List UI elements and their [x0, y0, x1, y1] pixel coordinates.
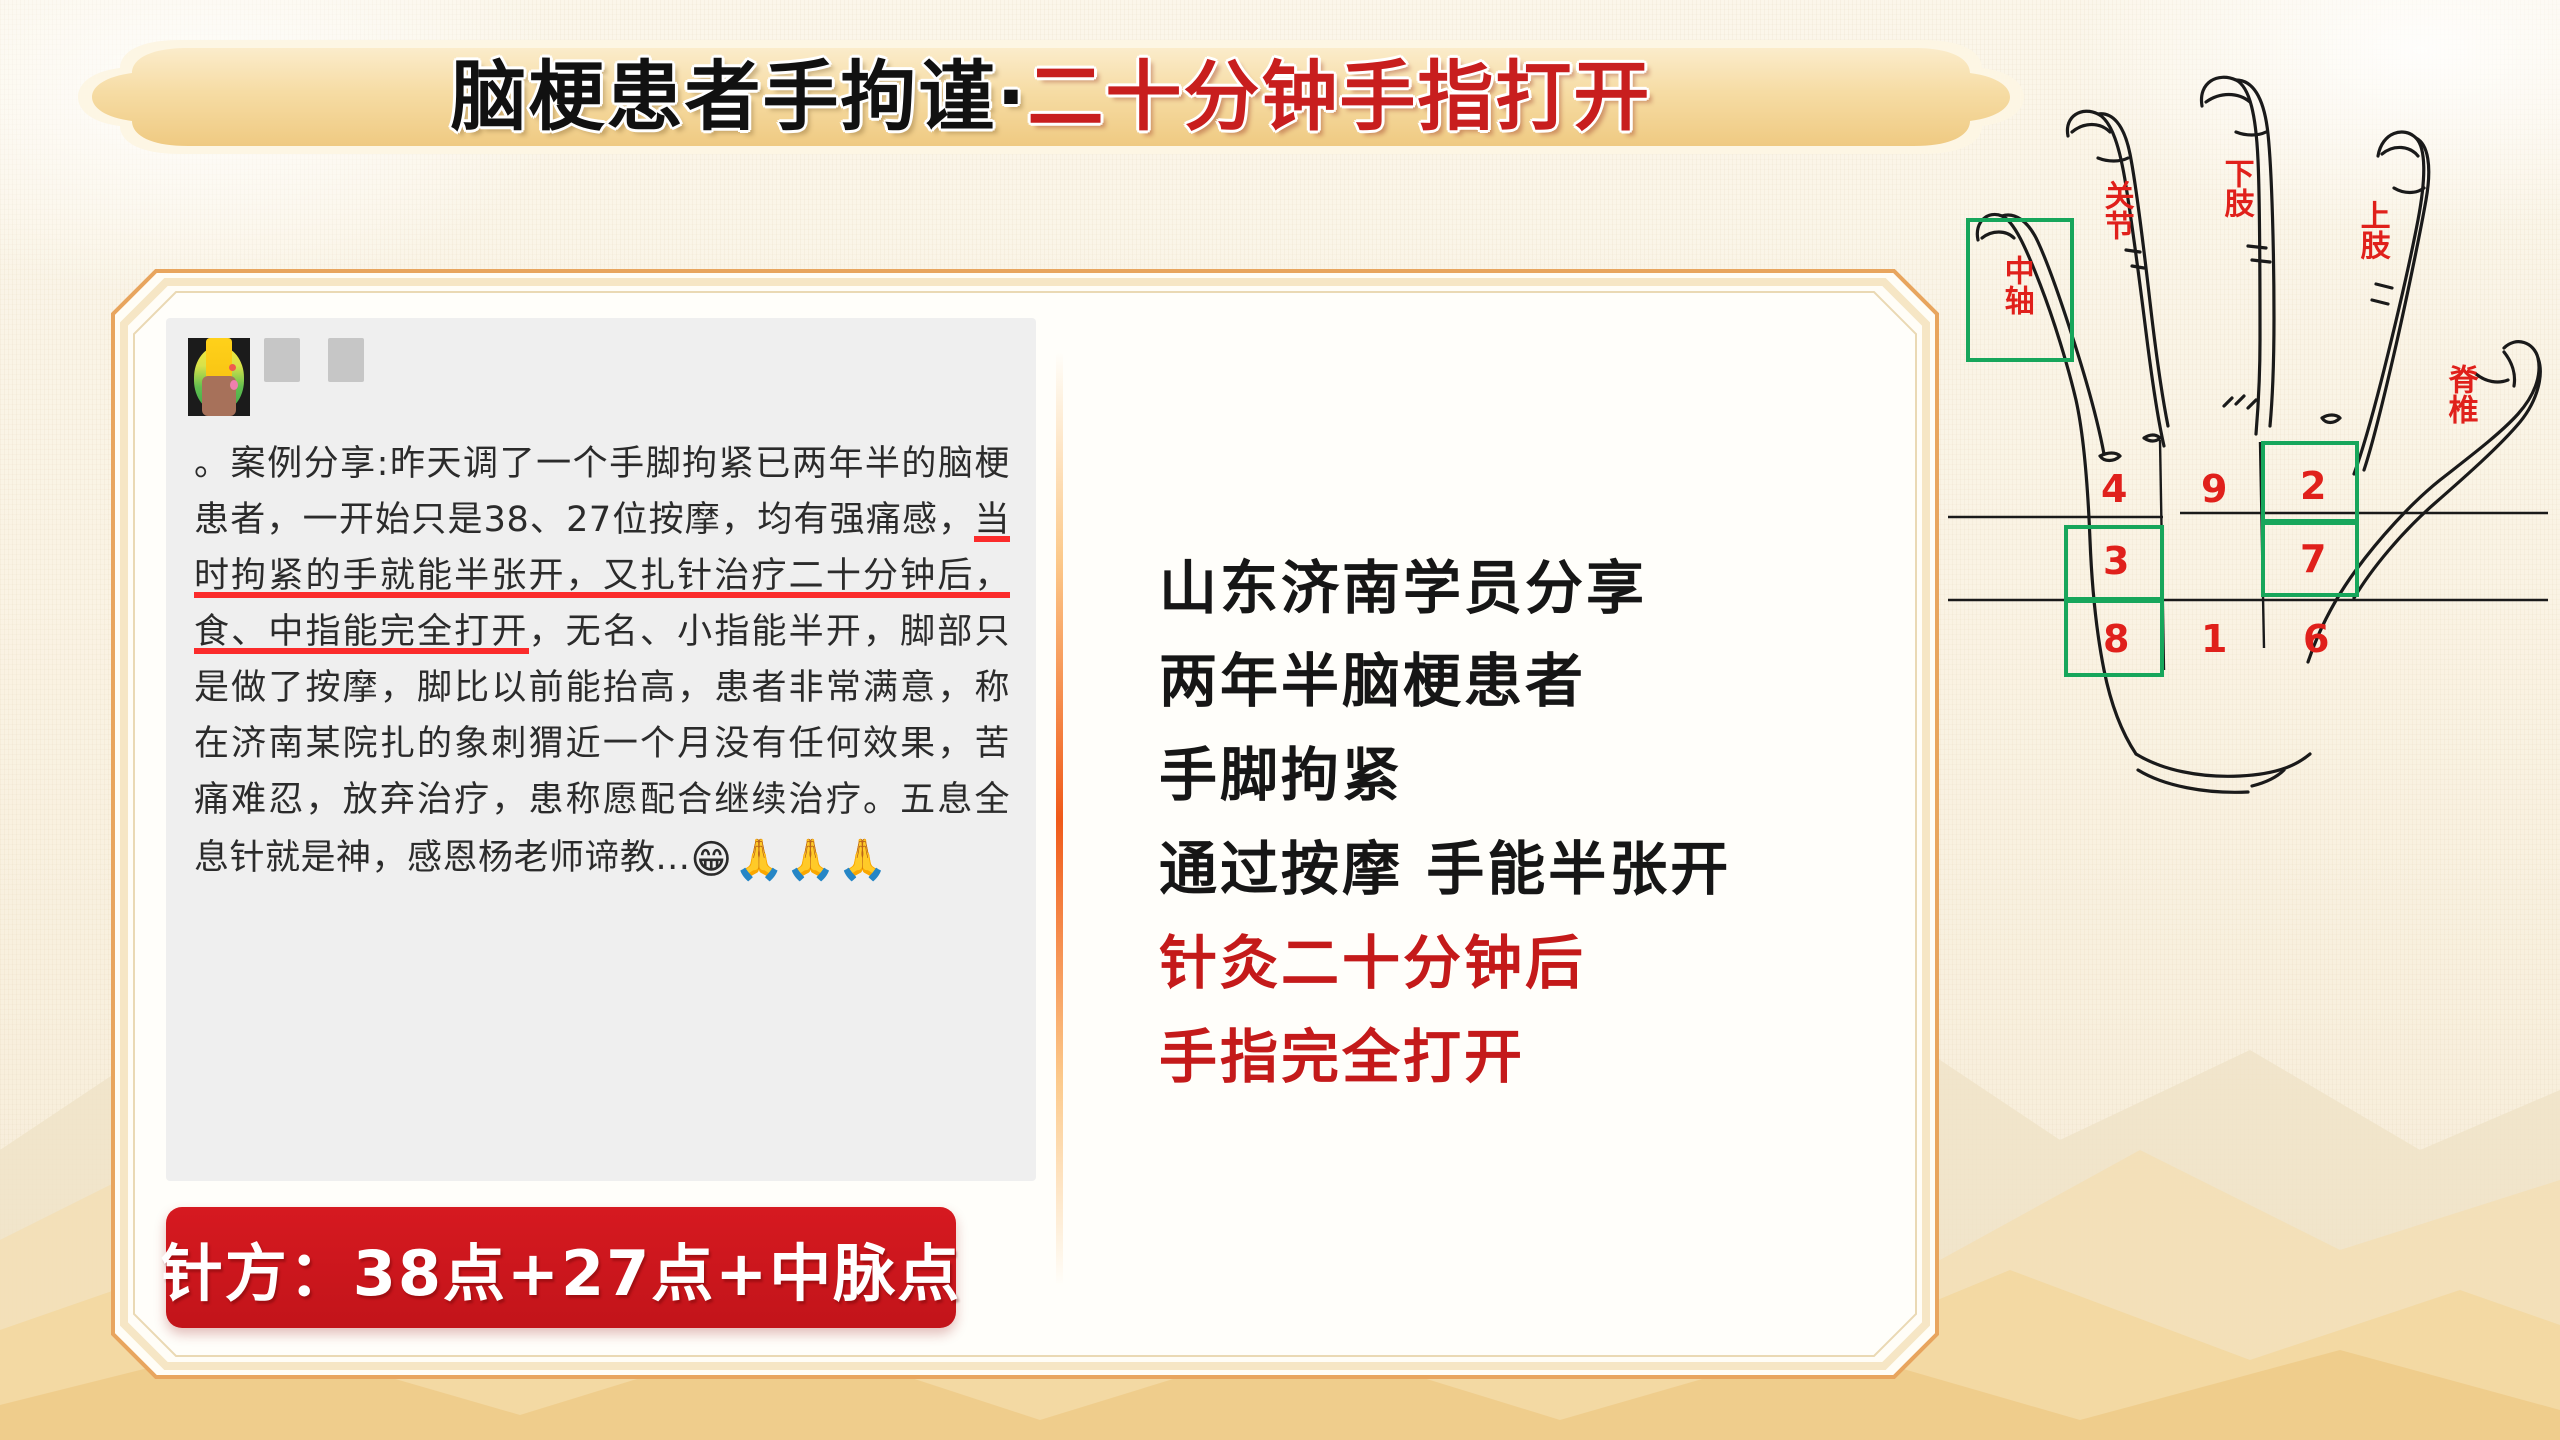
hand-label-ring-guanjie: 关节 — [2100, 180, 2131, 240]
summary-point-1: 山东济南学员分享 — [1159, 557, 1884, 621]
summary-point-5: 针灸二十分钟后 — [1159, 932, 1884, 996]
wechat-column: 。案例分享:昨天调了一个手脚拘紧已两年半的脑梗患者，一开始只是38、27位按摩，… — [166, 318, 1056, 1328]
wechat-screenshot: 。案例分享:昨天调了一个手脚拘紧已两年半的脑梗患者，一开始只是38、27位按摩，… — [166, 318, 1036, 1181]
hand-zone-number-2: 2 — [2300, 467, 2326, 505]
hand-label-pinky-zhongzhou: 中轴 — [2000, 255, 2031, 315]
hand-zone-number-9: 9 — [2201, 470, 2227, 508]
message-part-1: 。案例分享:昨天调了一个手脚拘紧已两年半的脑梗患者，一开始只是38、27位按摩，… — [194, 444, 1010, 540]
hand-zone-number-3: 3 — [2103, 542, 2129, 580]
hand-zone-number-8: 8 — [2103, 620, 2129, 658]
poster-canvas: 脑梗患者手拘谨· 二十分钟手指打开 — [0, 0, 2560, 1440]
prescription-banner: 针方：38点+27点+中脉点 — [166, 1207, 956, 1328]
title-red-part: 二十分钟手指打开 — [1027, 59, 1651, 135]
prescription-label: 针方：38点+27点+中脉点 — [161, 1223, 961, 1313]
message-emoji: 😁🙏🙏🙏 — [690, 837, 889, 883]
vertical-divider — [1056, 352, 1063, 1286]
summary-column: 山东济南学员分享 两年半脑梗患者 手脚拘紧 通过按摩 手能半张开 针灸二十分钟后… — [1063, 318, 1884, 1328]
avatar — [188, 338, 250, 416]
hand-zone-number-6: 6 — [2303, 620, 2329, 658]
wechat-header — [188, 338, 364, 416]
hand-label-thumb-jizhui: 脊椎 — [2444, 364, 2475, 424]
hand-zone-number-4: 4 — [2101, 470, 2127, 508]
redacted-name-block-1 — [264, 338, 300, 382]
summary-point-3: 手脚拘紧 — [1159, 744, 1884, 808]
title-banner: 脑梗患者手拘谨· 二十分钟手指打开 — [62, 36, 2040, 158]
hand-zone-number-7: 7 — [2300, 540, 2326, 578]
title-black-part: 脑梗患者手拘谨· — [451, 59, 1028, 135]
hand-label-index-shangzhi: 上肢 — [2356, 200, 2387, 260]
content-card: 。案例分享:昨天调了一个手脚拘紧已两年半的脑梗患者，一开始只是38、27位按摩，… — [110, 268, 1940, 1380]
hand-diagram: 中轴 关节 下肢 上肢 脊椎 4 9 2 3 7 8 1 6 — [1948, 70, 2548, 840]
summary-point-2: 两年半脑梗患者 — [1159, 650, 1884, 714]
poster-title: 脑梗患者手拘谨· 二十分钟手指打开 — [62, 36, 2040, 158]
hand-label-middle-xiazhi: 下肢 — [2220, 158, 2251, 218]
summary-point-6: 手指完全打开 — [1159, 1026, 1884, 1090]
summary-point-4: 通过按摩 手能半张开 — [1159, 838, 1884, 902]
redacted-name-block-2 — [328, 338, 364, 382]
wechat-message-text: 。案例分享:昨天调了一个手脚拘紧已两年半的脑梗患者，一开始只是38、27位按摩，… — [194, 436, 1010, 892]
hand-zone-number-1: 1 — [2201, 620, 2227, 658]
